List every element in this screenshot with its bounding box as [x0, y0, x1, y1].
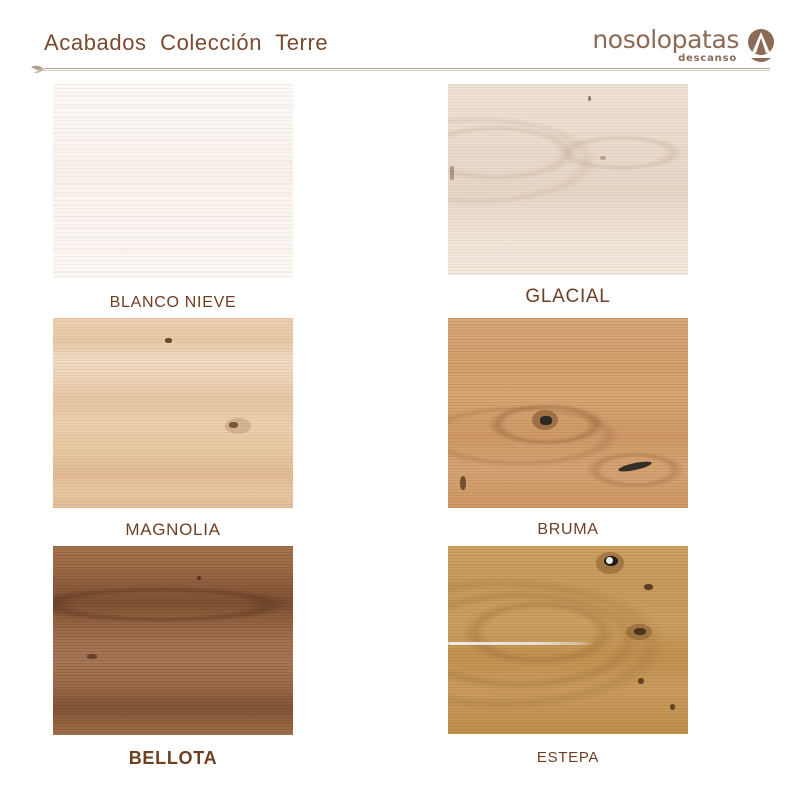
- wood-sample-bruma[interactable]: [448, 318, 688, 508]
- header-divider: [30, 63, 770, 77]
- page-title: Acabados Colección Terre: [44, 30, 328, 56]
- swatch-label-bruma: BRUMA: [448, 521, 688, 539]
- swatch-cell-magnolia[interactable]: MAGNOLIA: [53, 318, 293, 540]
- wood-sample-magnolia[interactable]: [53, 318, 293, 508]
- swatch-cell-blanco-nieve[interactable]: BLANCO NIEVE: [53, 84, 293, 312]
- brand-logo[interactable]: nosolopatas descanso: [592, 27, 778, 65]
- wood-knot-icon: [588, 96, 591, 101]
- wood-sample-blanco-nieve[interactable]: [53, 84, 293, 278]
- wood-knot-icon: [670, 704, 675, 710]
- finishes-catalog-page: Acabados Colección Terre nosolopatas des…: [0, 0, 800, 800]
- wood-knot-icon: [618, 460, 653, 474]
- finishes-grid: BLANCO NIEVE GLACIAL MAGNOLIA: [0, 80, 800, 800]
- wood-knot-icon: [634, 628, 646, 635]
- wood-knot-icon: [606, 557, 613, 564]
- swatch-cell-glacial[interactable]: GLACIAL: [448, 84, 688, 308]
- wood-knot-icon: [540, 416, 552, 425]
- wood-knot-icon: [450, 166, 454, 180]
- divider-rule: [44, 68, 770, 71]
- wood-sample-bellota[interactable]: [53, 546, 293, 735]
- resin-filler-line: [448, 642, 594, 645]
- wood-knot-icon: [638, 678, 644, 684]
- wood-knot-icon: [460, 476, 466, 490]
- logo-wordmark: nosolopatas: [592, 27, 739, 52]
- swatch-label-blanco-nieve: BLANCO NIEVE: [53, 294, 293, 312]
- wood-knot-icon: [644, 584, 653, 590]
- swatch-label-estepa: ESTEPA: [448, 749, 688, 766]
- wood-knot-icon: [600, 156, 606, 160]
- swatch-cell-bellota[interactable]: BELLOTA: [53, 546, 293, 769]
- wood-knot-icon: [165, 338, 172, 343]
- swatch-label-glacial: GLACIAL: [448, 286, 688, 308]
- swatch-cell-bruma[interactable]: BRUMA: [448, 318, 688, 539]
- swatch-cell-estepa[interactable]: ESTEPA: [448, 546, 688, 766]
- wood-knot-icon: [197, 576, 201, 580]
- wood-knot-icon: [225, 418, 251, 434]
- logo-text-group: nosolopatas descanso: [592, 27, 739, 65]
- swatch-label-bellota: BELLOTA: [53, 748, 293, 769]
- page-header: Acabados Colección Terre nosolopatas des…: [0, 0, 800, 80]
- wood-knot-icon: [87, 654, 97, 659]
- wood-sample-glacial[interactable]: [448, 84, 688, 275]
- swatch-label-magnolia: MAGNOLIA: [53, 520, 293, 540]
- mountain-circle-logo-mark: [744, 28, 778, 64]
- wood-sample-estepa[interactable]: [448, 546, 688, 734]
